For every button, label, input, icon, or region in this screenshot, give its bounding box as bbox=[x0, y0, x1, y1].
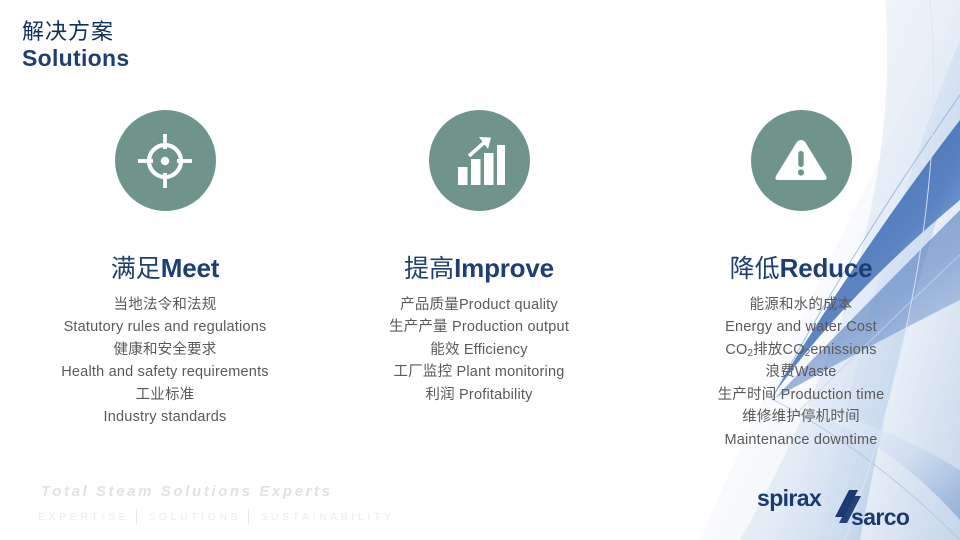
column-heading-reduce: 降低Reduce bbox=[730, 255, 873, 282]
column-lines-reduce: 能源和水的成本 Energy and water Cost CO2排放CO2em… bbox=[718, 294, 885, 451]
solutions-columns: 满足Meet 当地法令和法规 Statutory rules and regul… bbox=[0, 110, 960, 451]
list-item: Statutory rules and regulations bbox=[61, 316, 269, 338]
column-lines-meet: 当地法令和法规 Statutory rules and regulations … bbox=[61, 294, 269, 429]
column-heading-improve-chinese: 提高 bbox=[404, 255, 454, 283]
column-heading-meet: 满足Meet bbox=[111, 255, 219, 282]
column-lines-improve: 产品质量Product quality 生产产量 Production outp… bbox=[389, 294, 569, 406]
list-item: 能源和水的成本 bbox=[718, 294, 885, 316]
icon-badge-reduce bbox=[751, 110, 852, 211]
target-crosshair-icon bbox=[135, 131, 195, 191]
slide-canvas: 解决方案 Solutions 满足Meet 当地法令和法规 St bbox=[0, 0, 960, 540]
column-improve: 提高Improve 产品质量Product quality 生产产量 Produ… bbox=[320, 110, 638, 451]
footer-pillar-divider bbox=[248, 509, 249, 524]
list-item: 工业标准 bbox=[61, 384, 269, 406]
footer-tagline: Total Steam Solutions Experts bbox=[41, 483, 333, 500]
bar-chart-growth-icon bbox=[449, 131, 509, 191]
column-heading-reduce-english: Reduce bbox=[780, 253, 873, 283]
column-reduce: 降低Reduce 能源和水的成本 Energy and water Cost C… bbox=[642, 110, 960, 451]
page-title-english: Solutions bbox=[22, 46, 129, 72]
spirax-sarco-logo: spirax sarco bbox=[757, 484, 941, 530]
footer-pillars: EXPERTISE SOLUTIONS SUSTAINABILITY bbox=[38, 509, 394, 524]
logo-word-sarco: sarco bbox=[851, 504, 910, 530]
column-heading-improve-english: Improve bbox=[454, 253, 554, 283]
list-item: 能效 Efficiency bbox=[389, 339, 569, 361]
icon-badge-improve bbox=[429, 110, 530, 211]
column-heading-improve: 提高Improve bbox=[404, 255, 554, 282]
list-item: 工厂监控 Plant monitoring bbox=[389, 361, 569, 383]
list-item: 利润 Profitability bbox=[389, 384, 569, 406]
icon-badge-meet bbox=[115, 110, 216, 211]
list-item: 当地法令和法规 bbox=[61, 294, 269, 316]
footer-pillar-sustainability: SUSTAINABILITY bbox=[260, 511, 394, 523]
page-title-chinese: 解决方案 bbox=[22, 20, 129, 45]
page-title: 解决方案 Solutions bbox=[22, 20, 129, 71]
list-item: 产品质量Product quality bbox=[389, 294, 569, 316]
list-item: Industry standards bbox=[61, 406, 269, 428]
footer-pillar-solutions: SOLUTIONS bbox=[148, 511, 241, 523]
column-meet: 满足Meet 当地法令和法规 Statutory rules and regul… bbox=[6, 110, 324, 451]
footer-pillar-expertise: EXPERTISE bbox=[38, 511, 129, 523]
list-item: Health and safety requirements bbox=[61, 361, 269, 383]
column-heading-reduce-chinese: 降低 bbox=[730, 255, 780, 283]
list-item: 维修维护停机时间 bbox=[718, 406, 885, 428]
list-item: 生产时间 Production time bbox=[718, 384, 885, 406]
warning-triangle-icon bbox=[771, 131, 831, 191]
list-item: 浪费Waste bbox=[718, 361, 885, 383]
logo-word-spirax: spirax bbox=[757, 485, 822, 511]
list-item: Maintenance downtime bbox=[718, 429, 885, 451]
list-item: 生产产量 Production output bbox=[389, 316, 569, 338]
column-heading-meet-chinese: 满足 bbox=[111, 255, 161, 283]
list-item: 健康和安全要求 bbox=[61, 339, 269, 361]
column-heading-meet-english: Meet bbox=[161, 253, 219, 283]
footer-pillar-divider bbox=[136, 509, 137, 524]
list-item: Energy and water Cost bbox=[718, 316, 885, 338]
list-item-co2: CO2排放CO2emissions bbox=[718, 339, 885, 361]
